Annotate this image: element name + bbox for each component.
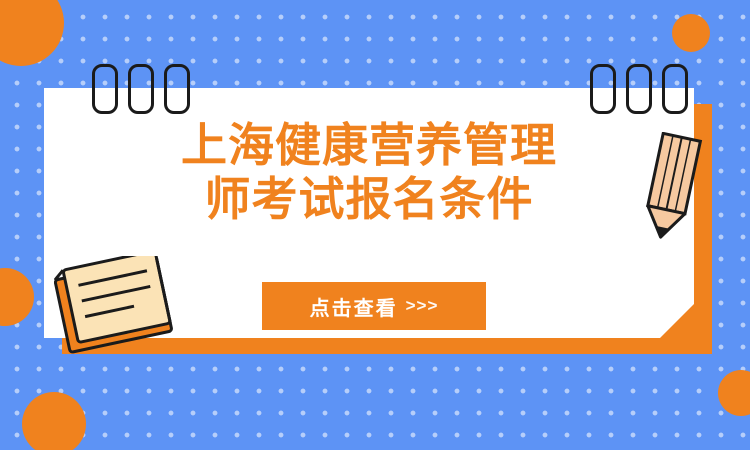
ring-icon — [164, 64, 190, 114]
ring-icon — [626, 64, 652, 114]
card-folded-corner-inner — [660, 270, 694, 304]
book-icon — [54, 256, 178, 360]
ring-icon — [662, 64, 688, 114]
pencil-icon — [622, 132, 718, 244]
decorative-circle-top-right — [672, 14, 710, 52]
promo-banner: 上海健康营养管理 师考试报名条件 点击查看 >>> — [0, 0, 750, 450]
cta-button-label: 点击查看 — [310, 292, 398, 321]
ring-icon — [590, 64, 616, 114]
ring-icon — [92, 64, 118, 114]
spiral-rings-left — [92, 64, 190, 114]
card-folded-corner — [660, 304, 694, 338]
chevron-right-icon: >>> — [406, 296, 439, 316]
page-title: 上海健康营养管理 师考试报名条件 — [44, 118, 694, 227]
title-line-2: 师考试报名条件 — [44, 172, 694, 226]
ring-icon — [128, 64, 154, 114]
spiral-rings-right — [590, 64, 688, 114]
decorative-circle-bottom-left — [22, 392, 86, 450]
view-details-button[interactable]: 点击查看 >>> — [262, 282, 486, 330]
title-line-1: 上海健康营养管理 — [44, 118, 694, 172]
